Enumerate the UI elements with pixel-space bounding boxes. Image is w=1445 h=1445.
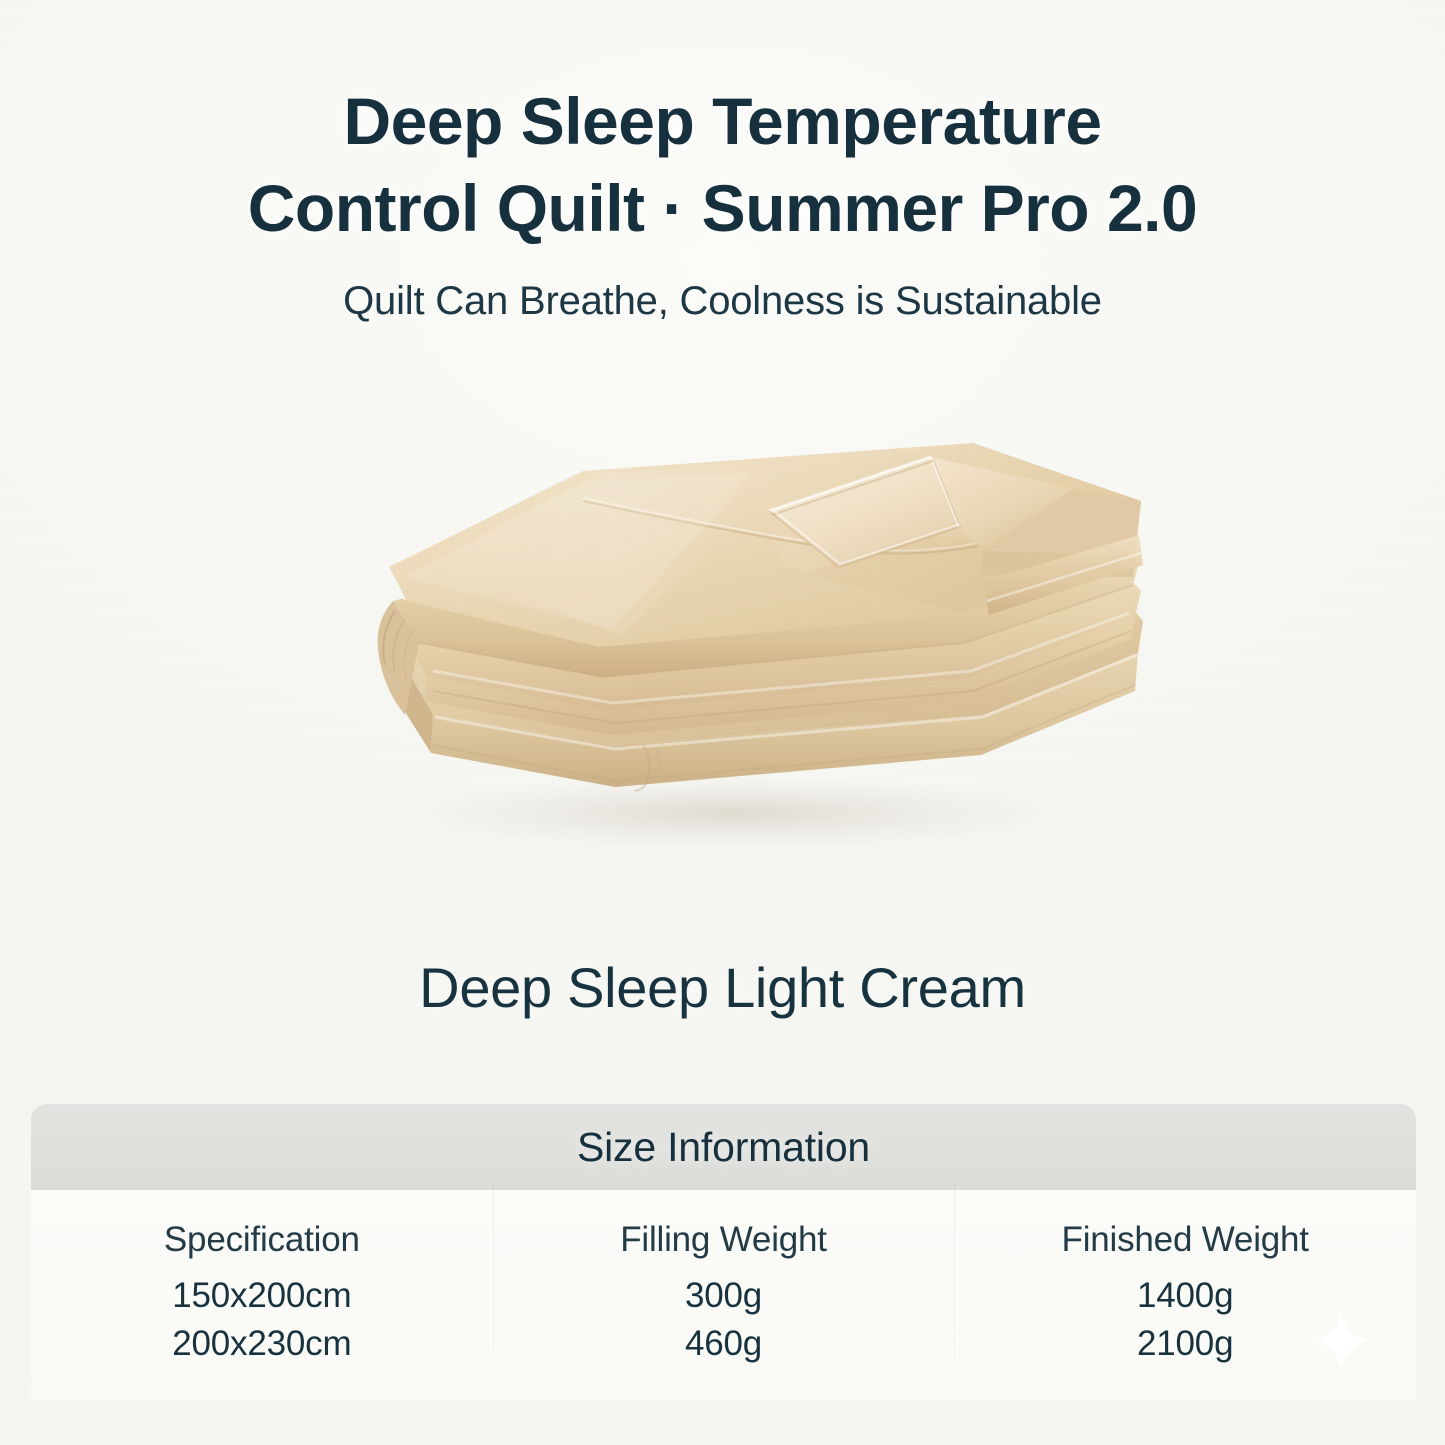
product-color-name: Deep Sleep Light Cream bbox=[0, 955, 1445, 1020]
spec-column-filling-weight: Filling Weight 300g 460g bbox=[493, 1190, 955, 1400]
folded-quilt-photo bbox=[283, 415, 1163, 855]
spec-value: 1400g bbox=[954, 1272, 1416, 1320]
title-line-1: Deep Sleep Temperature bbox=[0, 78, 1445, 165]
headline-block: Deep Sleep Temperature Control Quilt · S… bbox=[0, 78, 1445, 328]
spec-value: 460g bbox=[493, 1320, 955, 1368]
size-information-body: Specification 150x200cm 200x230cm Fillin… bbox=[31, 1190, 1416, 1400]
spec-column-header: Filling Weight bbox=[493, 1220, 955, 1260]
size-information-title: Size Information bbox=[577, 1124, 870, 1171]
spec-column-finished-weight: Finished Weight 1400g 2100g bbox=[954, 1190, 1416, 1400]
spec-value: 2100g bbox=[954, 1320, 1416, 1368]
size-information-header: Size Information bbox=[31, 1104, 1416, 1190]
spec-column-specification: Specification 150x200cm 200x230cm bbox=[31, 1190, 493, 1400]
product-marketing-page: Deep Sleep Temperature Control Quilt · S… bbox=[0, 0, 1445, 1445]
spec-value: 200x230cm bbox=[31, 1320, 493, 1368]
spec-value: 300g bbox=[493, 1272, 955, 1320]
page-title: Deep Sleep Temperature Control Quilt · S… bbox=[0, 78, 1445, 252]
product-image-stage bbox=[0, 415, 1445, 935]
size-information-card: Size Information Specification 150x200cm… bbox=[31, 1104, 1416, 1400]
spec-value: 150x200cm bbox=[31, 1272, 493, 1320]
page-subtitle: Quilt Can Breathe, Coolness is Sustainab… bbox=[0, 274, 1445, 328]
spec-column-header: Finished Weight bbox=[954, 1220, 1416, 1260]
title-line-2: Control Quilt · Summer Pro 2.0 bbox=[0, 165, 1445, 252]
spec-column-header: Specification bbox=[31, 1220, 493, 1260]
